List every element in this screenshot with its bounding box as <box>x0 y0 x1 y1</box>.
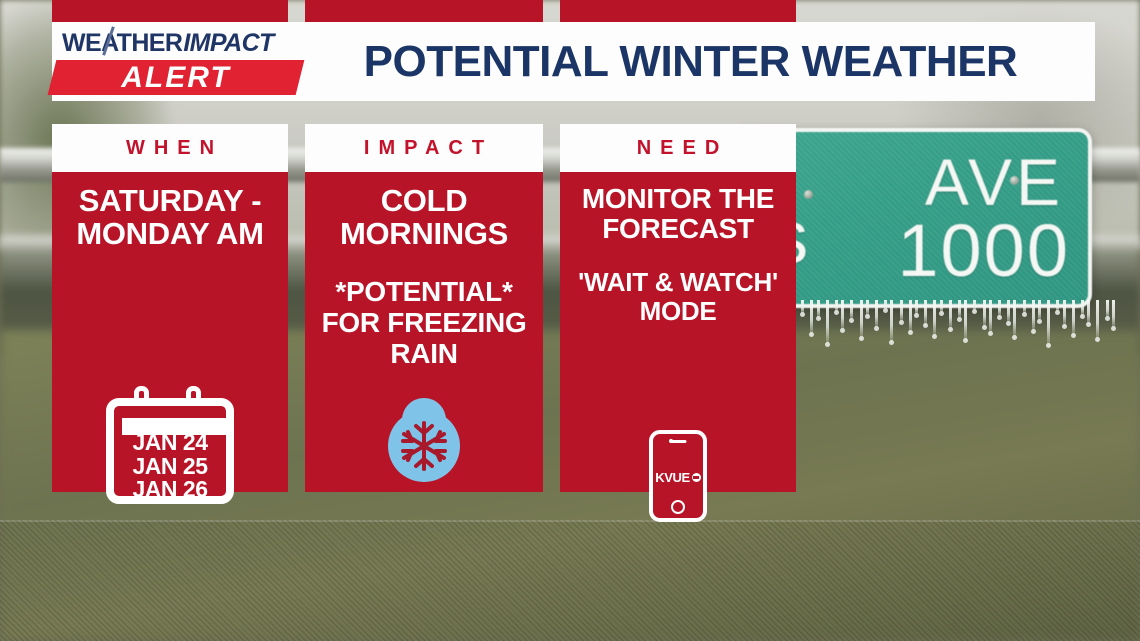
column-body-when: SATURDAY -MONDAY AM JAN 24JAN 25JAN 26 <box>52 172 288 492</box>
icicle-icon <box>958 300 961 319</box>
sign-bolt-icon <box>804 190 813 199</box>
kvue-logo: KVUE <box>653 470 703 485</box>
icicle-icon <box>1063 300 1066 326</box>
icicle-icon <box>801 300 804 314</box>
column-need: NEED MONITOR THEFORECAST 'WAIT & WATCH'M… <box>560 124 796 492</box>
sign-bolt-icon <box>1010 176 1019 185</box>
icicle-icon <box>835 300 838 312</box>
icicle-icon <box>989 300 992 333</box>
icicle-icon <box>850 300 853 320</box>
icicle-icon <box>1112 300 1115 328</box>
icicle-icon <box>940 300 943 313</box>
icicle-icon <box>1038 300 1041 321</box>
icicle-icon <box>1023 300 1026 314</box>
column-body-impact: COLDMORNINGS *POTENTIAL*FOR FREEZINGRAIN <box>305 172 543 492</box>
freezing-rain-droplet-icon <box>388 398 460 482</box>
icicle-icon <box>1007 300 1010 323</box>
top-accent-bar <box>305 0 543 22</box>
icicle-icon <box>866 300 869 316</box>
need-main-text: MONITOR THEFORECAST <box>566 184 790 244</box>
icicle-icon <box>1087 300 1090 324</box>
phone-speaker-icon <box>670 440 687 443</box>
icicle-icon <box>884 300 887 310</box>
column-header-impact: IMPACT <box>305 124 543 172</box>
calendar-icon: JAN 24JAN 25JAN 26 <box>106 386 234 504</box>
icicle-icon <box>1072 300 1075 335</box>
column-body-need: MONITOR THEFORECAST 'WAIT & WATCH'MODE K… <box>560 172 796 492</box>
icicle-icon <box>1032 300 1035 331</box>
icicle-icon <box>909 300 912 332</box>
icicle-icon <box>1047 300 1050 345</box>
brand-wordmark: WEATHERIMPACT <box>62 29 274 58</box>
icicle-icon <box>915 300 918 315</box>
icicles-icon <box>792 300 1122 358</box>
icicle-icon <box>933 300 936 336</box>
weather-impact-alert-logo: WEATHERIMPACT ALERT <box>52 22 304 101</box>
impact-main-text: COLDMORNINGS <box>311 184 537 251</box>
street-sign-block-label: 1000 <box>897 208 1070 293</box>
icicle-icon <box>890 300 893 342</box>
kvue-logo-mark-icon <box>692 473 701 482</box>
icicle-icon <box>1081 300 1084 316</box>
need-sub-text: 'WAIT & WATCH'MODE <box>566 268 790 325</box>
icicle-icon <box>817 300 820 318</box>
icicle-icon <box>1056 300 1059 312</box>
column-impact: IMPACT COLDMORNINGS *POTENTIAL*FOR FREEZ… <box>305 124 543 492</box>
icicle-icon <box>1013 300 1016 337</box>
alert-label: ALERT <box>52 60 300 95</box>
snowflake-icon <box>398 420 450 472</box>
icicle-icon <box>900 300 903 322</box>
icicle-icon <box>810 300 813 334</box>
phone-home-button-icon <box>671 500 685 514</box>
icicle-icon <box>924 300 927 325</box>
column-header-need: NEED <box>560 124 796 172</box>
page-title: POTENTIAL WINTER WEATHER <box>304 37 1095 87</box>
icicle-icon <box>875 300 878 328</box>
icicle-icon <box>983 300 986 327</box>
icicle-icon <box>860 300 863 338</box>
brand-weather-text: WEATHER <box>62 29 182 57</box>
title-strip: WEATHERIMPACT ALERT POTENTIAL WINTER WEA… <box>52 22 1095 101</box>
phone-icon: KVUE <box>649 430 707 522</box>
column-header-when: WHEN <box>52 124 288 172</box>
icicle-icon <box>826 300 829 344</box>
icicle-icon <box>973 300 976 311</box>
top-accent-bar <box>560 0 796 22</box>
icicle-icon <box>1106 300 1109 318</box>
top-accent-bar <box>52 0 288 22</box>
when-main-text: SATURDAY -MONDAY AM <box>58 184 282 251</box>
icicle-icon <box>949 300 952 329</box>
kvue-logo-text: KVUE <box>655 470 690 485</box>
icicle-icon <box>998 300 1001 317</box>
icicle-icon <box>841 300 844 330</box>
calendar-dates-text: JAN 24JAN 25JAN 26 <box>106 431 234 502</box>
icicle-icon <box>1096 300 1099 339</box>
impact-sub-text: *POTENTIAL*FOR FREEZINGRAIN <box>311 277 537 369</box>
brand-impact-text: IMPACT <box>183 29 273 57</box>
icicle-icon <box>964 300 967 340</box>
column-when: WHEN SATURDAY -MONDAY AM JAN 24JAN 25JAN… <box>52 124 288 492</box>
background-hatch <box>0 520 1140 641</box>
